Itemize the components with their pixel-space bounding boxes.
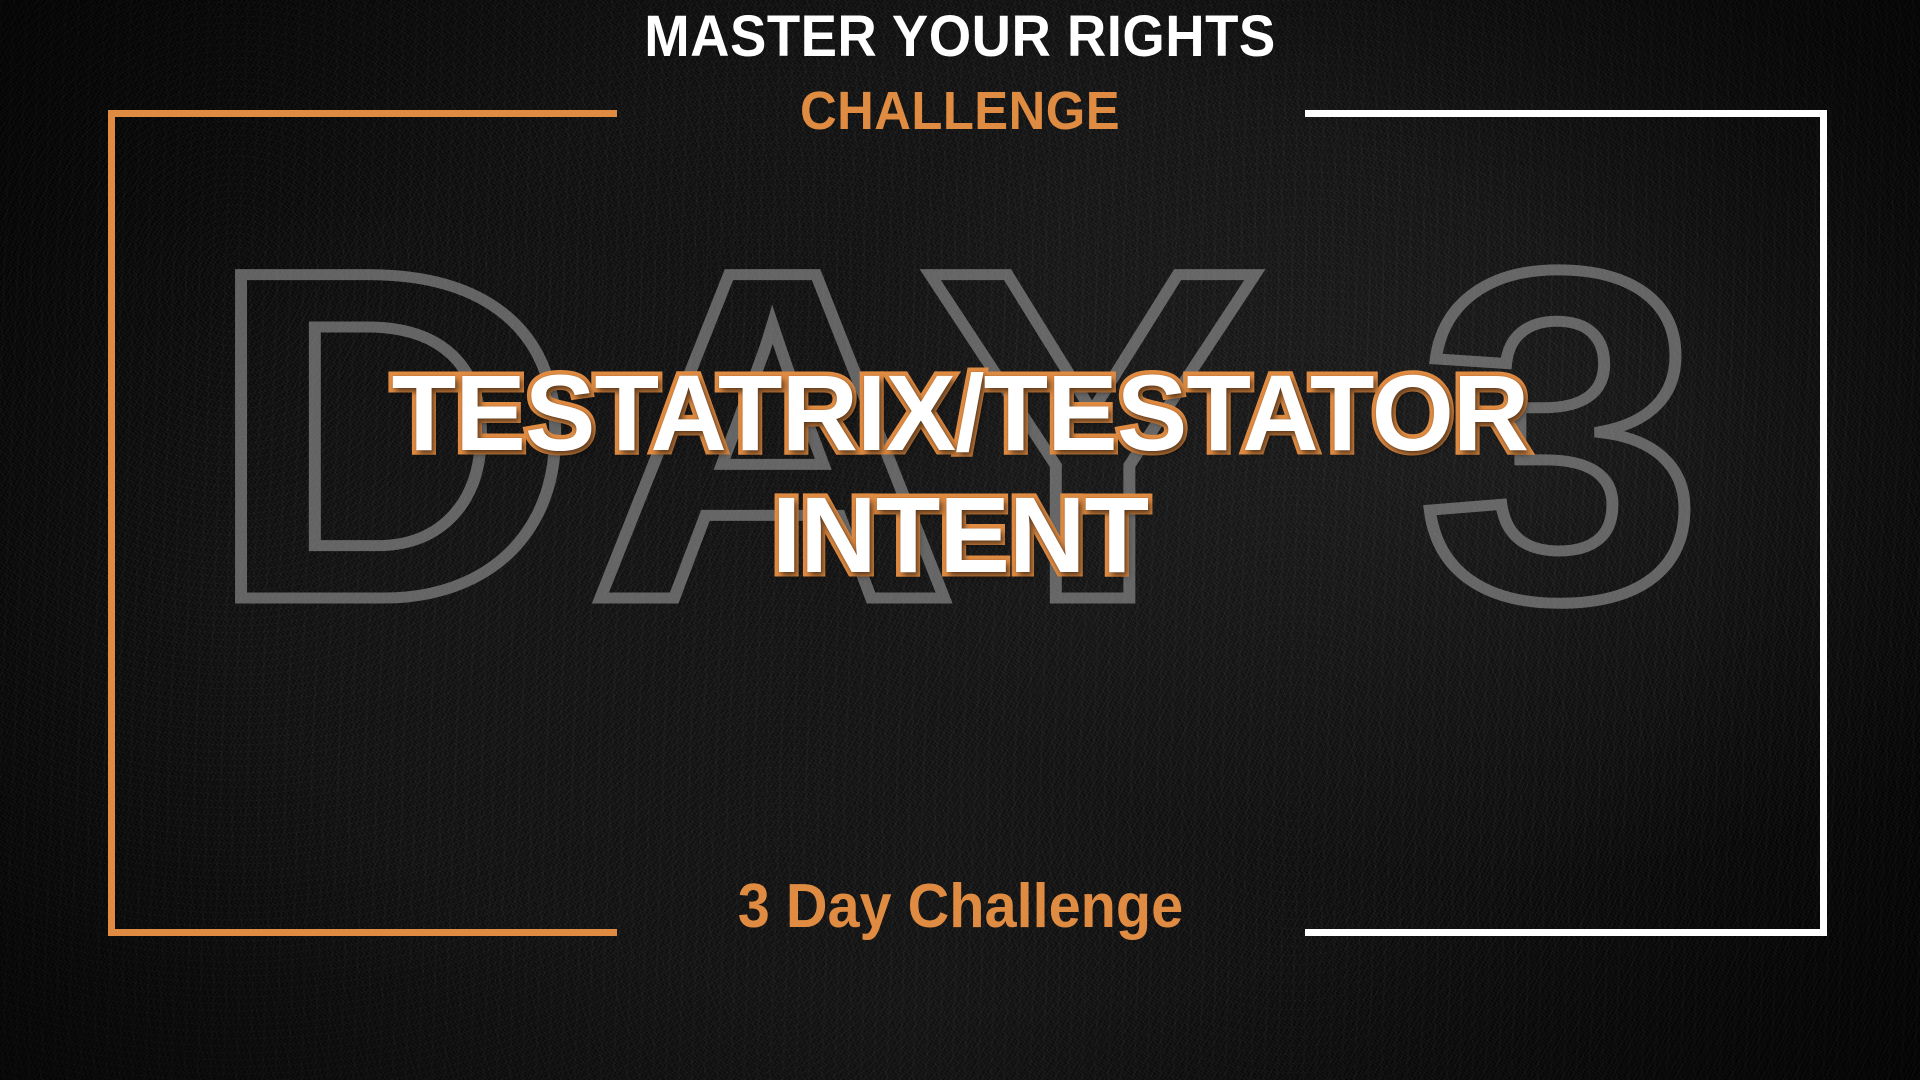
headline-line-1: TESTATRIX/TESTATOR <box>49 352 1872 474</box>
eyebrow-subtitle: CHALLENGE <box>58 84 1863 138</box>
headline-block: TESTATRIX/TESTATOR INTENT <box>0 352 1920 596</box>
headline-line-2: INTENT <box>49 474 1872 596</box>
footer-label: 3 Day Challenge <box>737 876 1182 938</box>
eyebrow-block: MASTER YOUR RIGHTS CHALLENGE <box>0 8 1920 138</box>
footer-block: 3 Day Challenge <box>0 876 1920 938</box>
eyebrow-title: MASTER YOUR RIGHTS <box>58 8 1863 66</box>
poster-canvas: DAY 3 MASTER YOUR RIGHTS CHALLENGE TESTA… <box>0 0 1920 1080</box>
